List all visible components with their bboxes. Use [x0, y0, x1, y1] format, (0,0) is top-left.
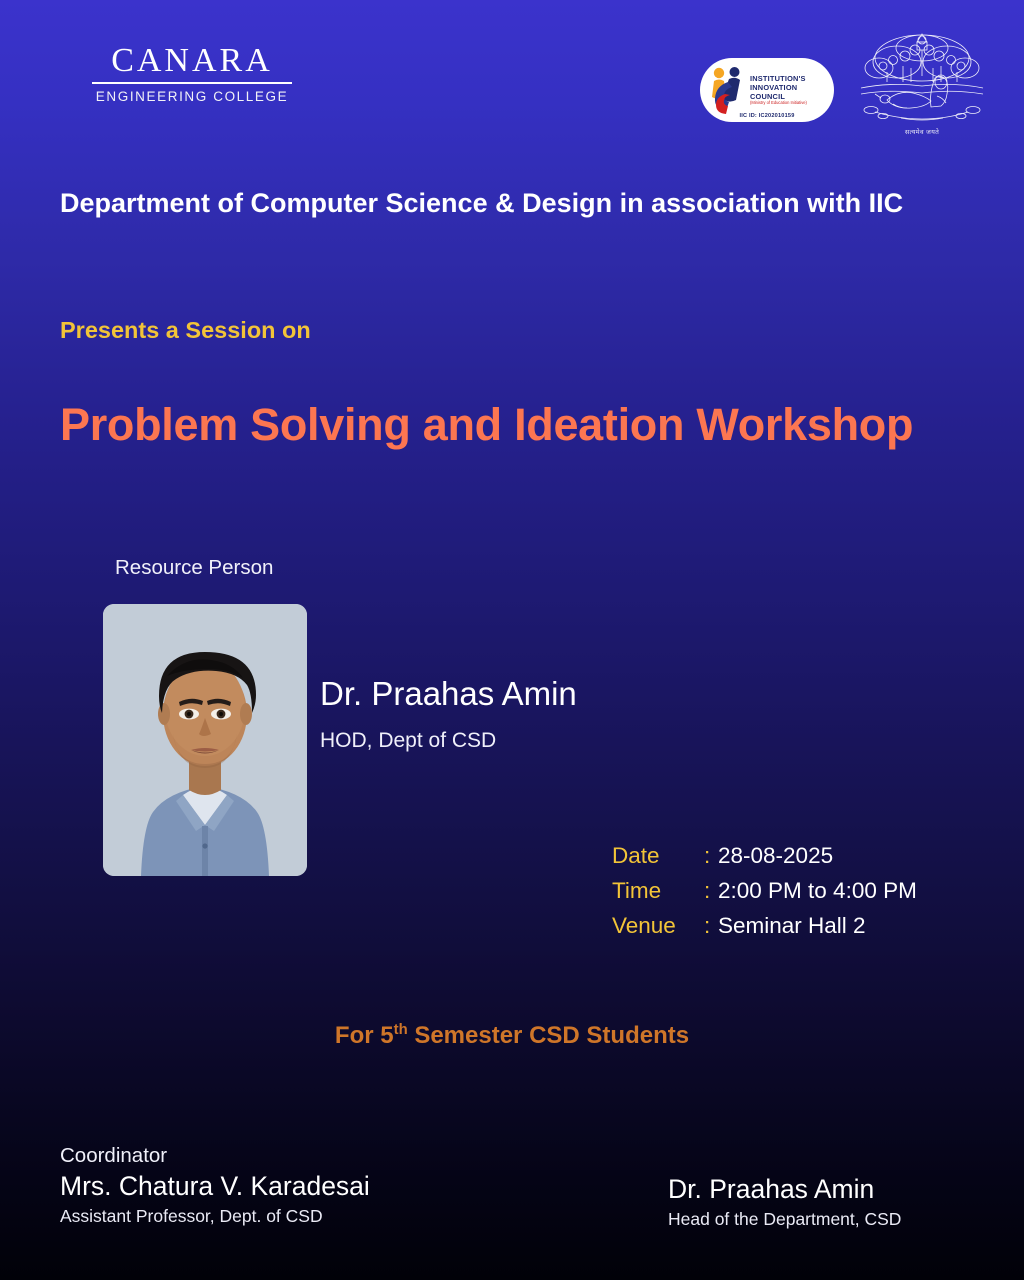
audience-note: For 5th Semester CSD Students — [0, 1022, 1024, 1050]
date-label: Date — [612, 843, 704, 869]
coordinator-designation: Assistant Professor, Dept. of CSD — [60, 1204, 370, 1229]
coordinator-name: Mrs. Chatura V. Karadesai — [60, 1169, 370, 1204]
event-details: Date : 28-08-2025 Time : 2:00 PM to 4:00… — [612, 843, 917, 948]
presents-label: Presents a Session on — [60, 316, 311, 344]
iic-line-1: INSTITUTION'S — [750, 74, 807, 83]
iic-ministry-note: (Ministry of Education Initiative) — [750, 101, 807, 106]
venue-label: Venue — [612, 913, 704, 939]
detail-row-venue: Venue : Seminar Hall 2 — [612, 913, 917, 939]
ministry-motto: सत्यमेव जयते — [857, 127, 987, 136]
tree-and-sage-icon — [857, 26, 987, 138]
time-label: Time — [612, 878, 704, 904]
iic-id: IIC ID: IC202010159 — [700, 113, 834, 119]
department-heading: Department of Computer Science & Design … — [60, 182, 960, 226]
coordinator-kicker: Coordinator — [60, 1142, 370, 1169]
time-value: 2:00 PM to 4:00 PM — [718, 878, 917, 904]
poster-header: CANARA ENGINEERING COLLEGE INSTITUTION'S… — [0, 0, 1024, 148]
college-subtitle: ENGINEERING COLLEGE — [92, 89, 292, 104]
resource-person-name: Dr. Praahas Amin — [320, 676, 577, 712]
resource-person-label: Resource Person — [115, 556, 273, 580]
canara-college-logo: CANARA ENGINEERING COLLEGE — [92, 44, 292, 104]
iic-text-block: INSTITUTION'S INNOVATION COUNCIL (Minist… — [750, 74, 807, 107]
coordinator-block: Coordinator Mrs. Chatura V. Karadesai As… — [60, 1142, 370, 1229]
hod-designation: Head of the Department, CSD — [668, 1207, 901, 1232]
audience-suffix: Semester CSD Students — [408, 1022, 689, 1049]
venue-colon: : — [704, 913, 718, 939]
hod-block: Dr. Praahas Amin Head of the Department,… — [668, 1172, 901, 1231]
iic-logo: INSTITUTION'S INNOVATION COUNCIL (Minist… — [700, 58, 834, 122]
logo-divider — [92, 82, 292, 84]
college-name: CANARA — [92, 44, 292, 78]
iic-line-2: INNOVATION — [750, 83, 807, 92]
ministry-of-education-emblem: सत्यमेव जयते — [857, 26, 987, 138]
audience-prefix: For 5 — [335, 1022, 394, 1049]
resource-person-role: HOD, Dept of CSD — [320, 728, 496, 753]
venue-value: Seminar Hall 2 — [718, 913, 866, 939]
resource-person-photo — [103, 604, 307, 876]
hod-name: Dr. Praahas Amin — [668, 1172, 901, 1207]
audience-ordinal: th — [394, 1022, 408, 1038]
event-title: Problem Solving and Ideation Workshop — [60, 398, 990, 452]
date-value: 28-08-2025 — [718, 843, 833, 869]
event-poster: CANARA ENGINEERING COLLEGE INSTITUTION'S… — [0, 0, 1024, 1280]
detail-row-date: Date : 28-08-2025 — [612, 843, 917, 869]
date-colon: : — [704, 843, 718, 869]
iic-emblem-icon — [706, 64, 748, 116]
time-colon: : — [704, 878, 718, 904]
portrait-photo-icon — [103, 604, 307, 876]
detail-row-time: Time : 2:00 PM to 4:00 PM — [612, 878, 917, 904]
